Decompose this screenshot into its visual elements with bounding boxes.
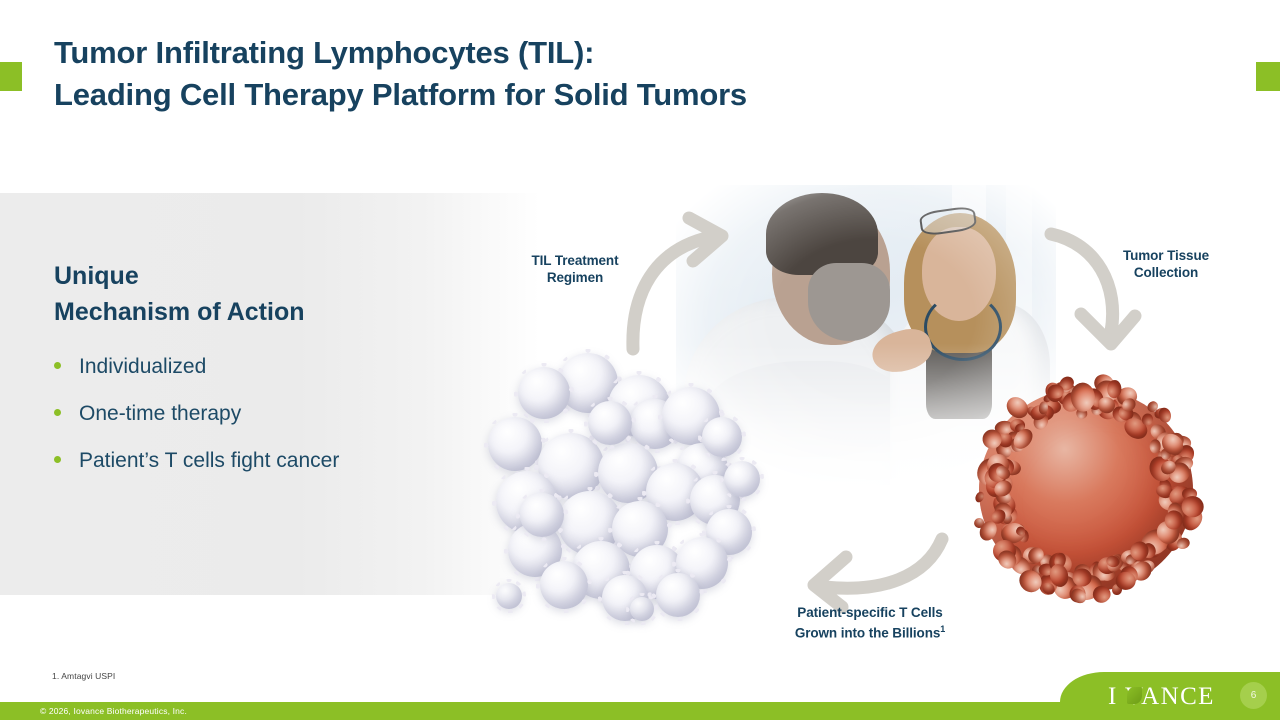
- label-patient-specific-t-cells: Patient-specific T Cells Grown into the …: [760, 604, 980, 642]
- bullet-dot-icon: [54, 409, 61, 416]
- label-tumor-line-1: Tumor Tissue: [1095, 247, 1237, 264]
- left-content-block: Unique Mechanism of Action Individualize…: [54, 258, 454, 495]
- iovance-logo: I VANCE: [1108, 683, 1215, 711]
- list-item: Individualized: [54, 354, 454, 380]
- bullet-list: Individualized One-time therapy Patient’…: [54, 354, 454, 474]
- t-cell: [588, 401, 632, 445]
- tumor-cell-illustration: [955, 368, 1217, 610]
- bullet-dot-icon: [54, 362, 61, 369]
- bullet-label: Patient’s T cells fight cancer: [79, 448, 339, 474]
- arrow-to-tumor-collection-icon: [1045, 210, 1185, 355]
- bullet-label: Individualized: [79, 354, 206, 380]
- label-tumor-tissue-collection: Tumor Tissue Collection: [1095, 247, 1237, 281]
- accent-square-left: [0, 62, 22, 91]
- slide: Tumor Infiltrating Lymphocytes (TIL): Le…: [0, 0, 1280, 720]
- t-cell: [724, 461, 760, 497]
- t-cell: [518, 367, 570, 419]
- accent-square-right: [1256, 62, 1280, 91]
- label-tcells-line-2: Grown into the Billions1: [760, 621, 980, 642]
- bullet-dot-icon: [54, 456, 61, 463]
- label-til-line-2: Regimen: [505, 269, 645, 286]
- copyright-text: © 2026, Iovance Biotherapeutics, Inc.: [40, 706, 187, 716]
- moa-heading-line-2: Mechanism of Action: [54, 294, 454, 330]
- moa-heading-line-1: Unique: [54, 258, 454, 294]
- label-til-line-1: TIL Treatment: [505, 252, 645, 269]
- label-til-treatment-regimen: TIL Treatment Regimen: [505, 252, 645, 286]
- footnote-marker: 1: [940, 624, 945, 634]
- tumor-villus: [1116, 572, 1136, 590]
- footnote-text: 1. Amtagvi USPI: [52, 671, 115, 681]
- arrow-to-t-cells-icon: [790, 535, 955, 610]
- bullet-label: One-time therapy: [79, 401, 241, 427]
- t-cell-cluster-illustration: [480, 345, 790, 635]
- t-cell: [520, 493, 564, 537]
- label-tcells-line-1: Patient-specific T Cells: [760, 604, 980, 621]
- list-item: Patient’s T cells fight cancer: [54, 448, 454, 474]
- label-tcells-line-2-text: Grown into the Billions: [795, 626, 940, 641]
- t-cell: [656, 573, 700, 617]
- slide-title: Tumor Infiltrating Lymphocytes (TIL): Le…: [54, 32, 954, 116]
- title-line-1: Tumor Infiltrating Lymphocytes (TIL):: [54, 32, 954, 74]
- t-cell: [540, 561, 588, 609]
- page-number-badge: 6: [1240, 682, 1267, 709]
- t-cell: [630, 597, 654, 621]
- tumor-villus: [1150, 439, 1161, 453]
- list-item: One-time therapy: [54, 401, 454, 427]
- logo-leaf-icon: [1127, 687, 1142, 704]
- label-tumor-line-2: Collection: [1095, 264, 1237, 281]
- title-line-2: Leading Cell Therapy Platform for Solid …: [54, 74, 954, 116]
- t-cell: [702, 417, 742, 457]
- t-cell: [496, 583, 522, 609]
